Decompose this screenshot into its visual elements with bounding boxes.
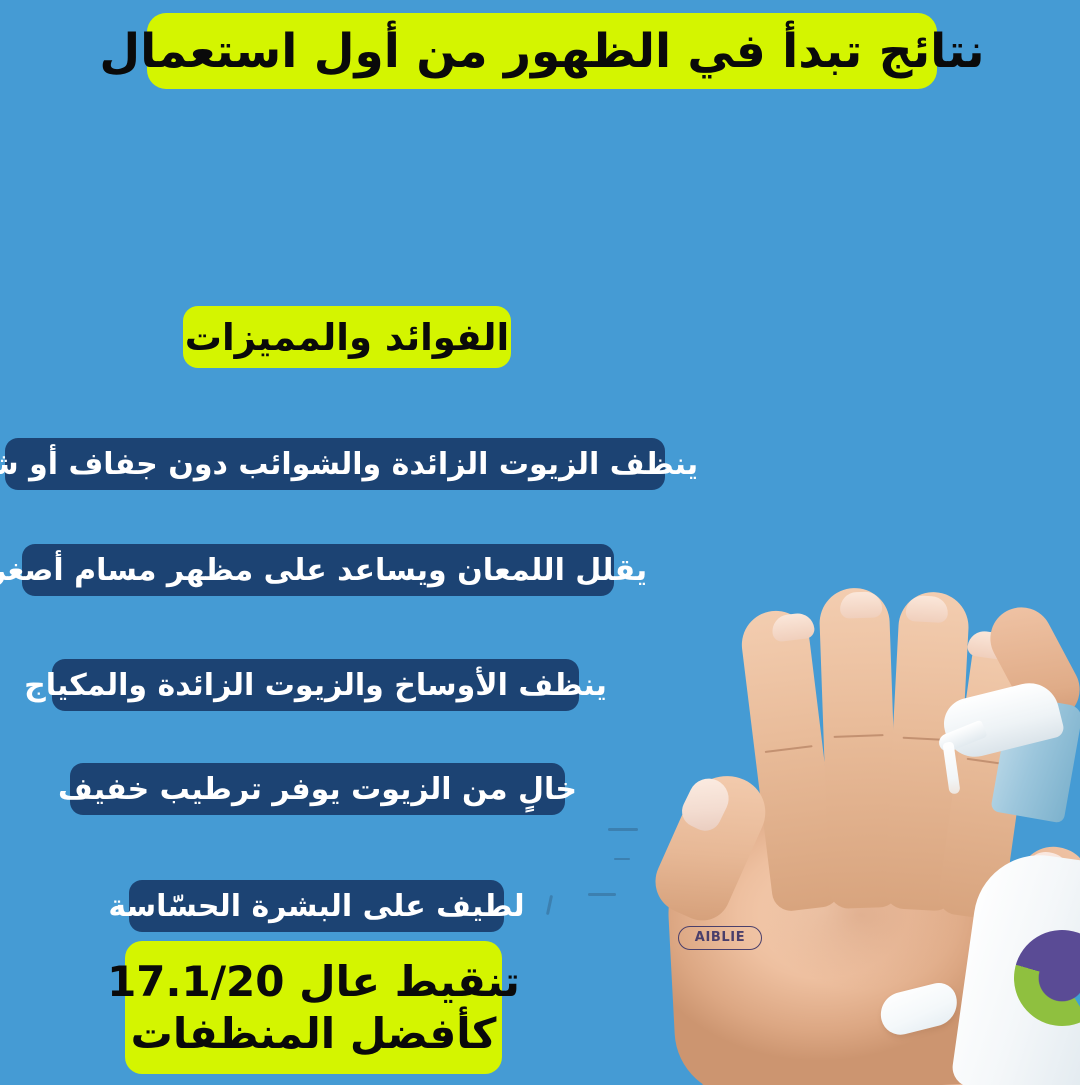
- text-overlay-layer: نتائج تبدأ في الظهور من أول استعمال الفو…: [0, 0, 1080, 1085]
- benefit-item-4: خالٍ من الزيوت يوفر ترطيب خفيف: [70, 763, 565, 815]
- benefit-item-2: يقلل اللمعان ويساعد على مظهر مسام أصغر: [22, 544, 614, 596]
- rating-score-line: تنقيط عال 17.1/20: [107, 957, 520, 1007]
- benefit-item-1: ينظف الزيوت الزائدة والشوائب دون جفاف أو…: [5, 438, 665, 490]
- rating-callout: تنقيط عال 17.1/20 كأفضل المنظفات: [125, 941, 502, 1074]
- benefit-item-5: لطيف على البشرة الحسّاسة: [129, 880, 504, 932]
- section-heading-benefits: الفوائد والمميزات: [183, 306, 511, 368]
- promo-canvas: AIBLIE نتائج تبدأ في الظهور من أول استعم…: [0, 0, 1080, 1085]
- page-title: نتائج تبدأ في الظهور من أول استعمال: [147, 13, 937, 89]
- rating-caption-line: كأفضل المنظفات: [131, 1009, 497, 1059]
- benefit-item-3: ينظف الأوساخ والزيوت الزائدة والمكياج: [52, 659, 579, 711]
